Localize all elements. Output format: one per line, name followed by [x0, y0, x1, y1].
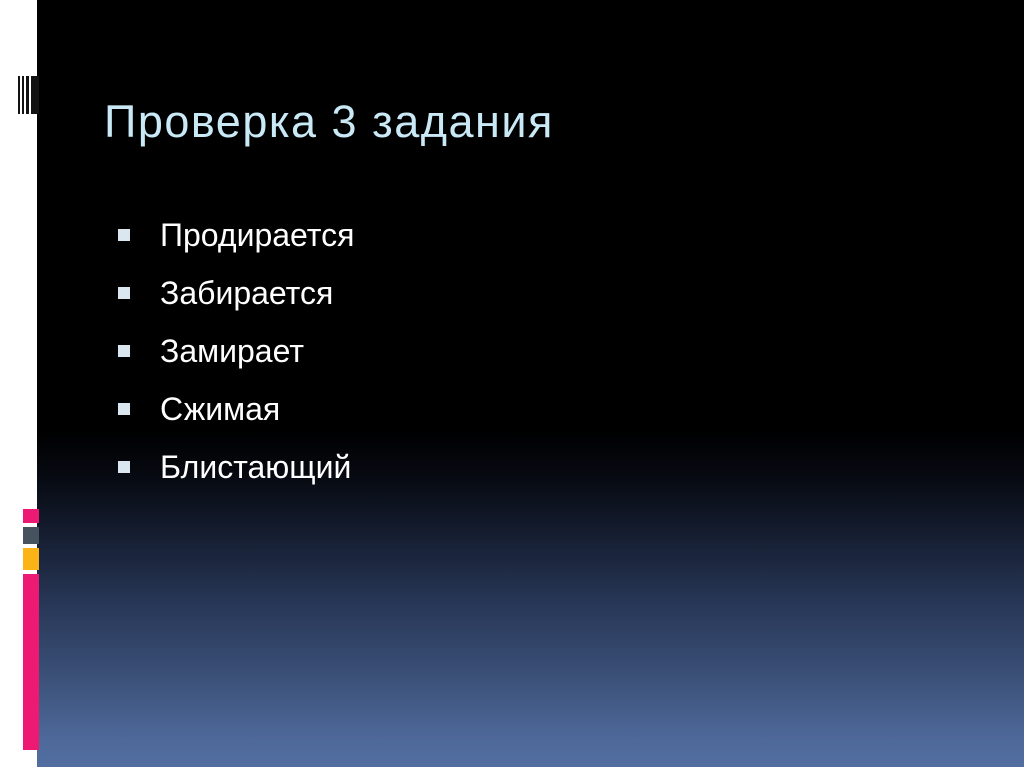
list-item: Замирает [118, 322, 878, 380]
presentation-slide: Проверка 3 задания Продирается Забираетс… [0, 0, 1024, 767]
stripe-4 [31, 76, 39, 114]
pink-accent-bar [23, 574, 39, 750]
stripe-1 [18, 76, 20, 114]
square-bullet-icon [118, 229, 130, 241]
square-bullet-icon [118, 461, 130, 473]
stripe-3 [26, 76, 29, 114]
slide-title: Проверка 3 задания [104, 94, 904, 150]
list-item-label: Блистающий [160, 447, 351, 487]
list-item: Забирается [118, 264, 878, 322]
bullet-list: Продирается Забирается Замирает Сжимая Б… [118, 206, 878, 496]
list-item: Сжимая [118, 380, 878, 438]
square-bullet-icon [118, 287, 130, 299]
list-item-label: Замирает [160, 331, 304, 371]
amber-chip [23, 548, 39, 570]
square-bullet-icon [118, 403, 130, 415]
list-item-label: Сжимая [160, 389, 280, 429]
list-item-label: Продирается [160, 215, 354, 255]
square-bullet-icon [118, 345, 130, 357]
pink-chip [23, 509, 39, 523]
vertical-stripes-icon [18, 76, 39, 114]
stripe-2 [22, 76, 24, 114]
slate-chip [23, 527, 39, 544]
list-item-label: Забирается [160, 273, 333, 313]
list-item: Блистающий [118, 438, 878, 496]
list-item: Продирается [118, 206, 878, 264]
